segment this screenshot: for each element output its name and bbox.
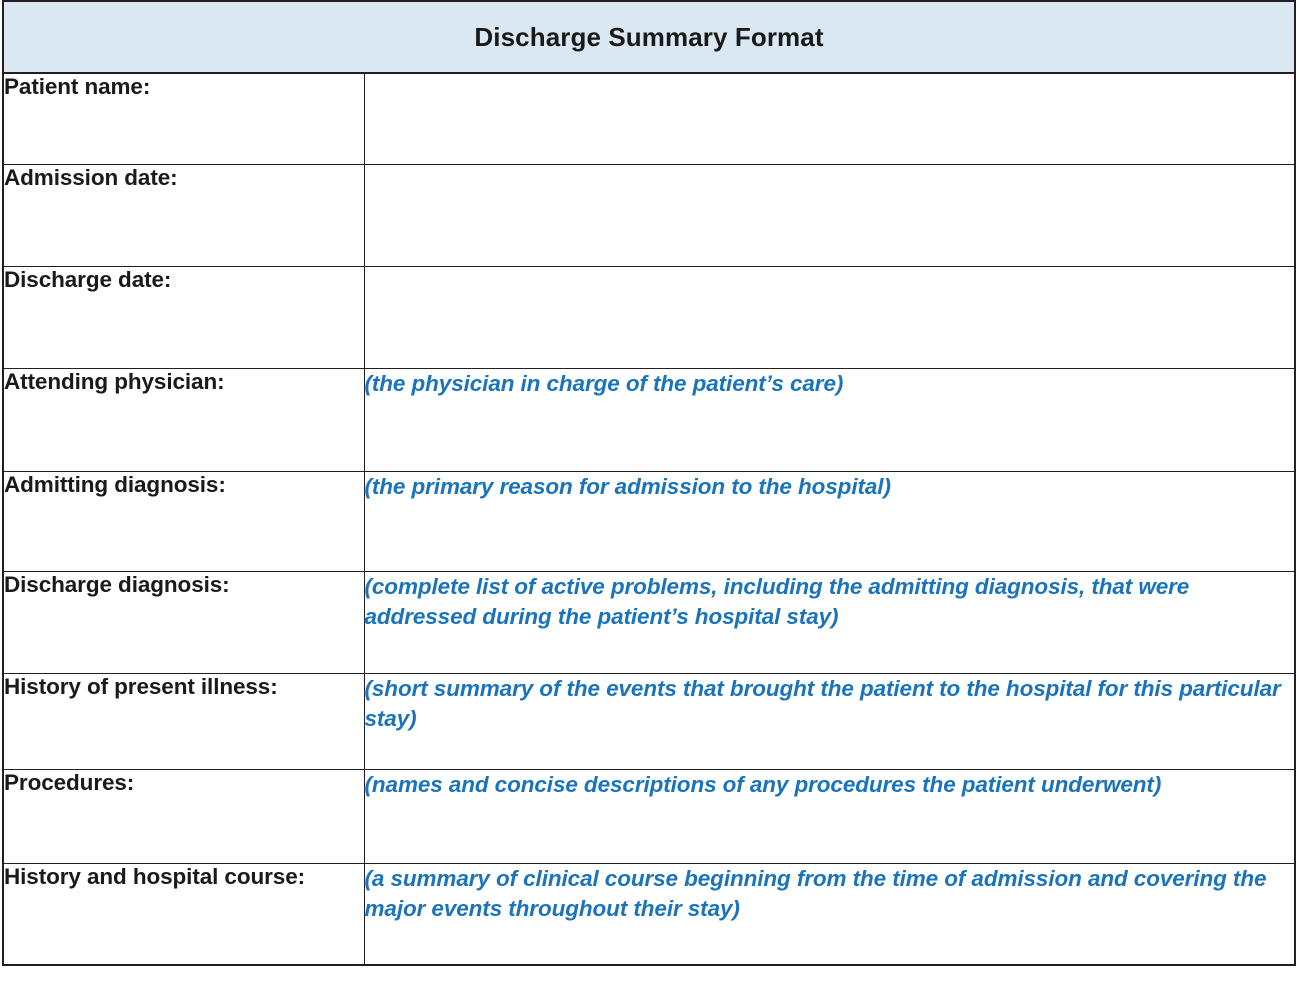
field-label-patient-name: Patient name: bbox=[3, 73, 364, 165]
field-value-discharge-date[interactable] bbox=[364, 267, 1295, 369]
field-value-patient-name[interactable] bbox=[364, 73, 1295, 165]
description-text: (the primary reason for admission to the… bbox=[365, 472, 1295, 502]
discharge-summary-table: Discharge Summary Format Patient name: A… bbox=[2, 0, 1296, 966]
field-label-procedures: Procedures: bbox=[3, 770, 364, 864]
discharge-summary-sheet: Discharge Summary Format Patient name: A… bbox=[0, 0, 1300, 990]
description-text: (complete list of active problems, inclu… bbox=[365, 572, 1295, 632]
field-value-discharge-diagnosis[interactable]: (complete list of active problems, inclu… bbox=[364, 572, 1295, 674]
field-value-procedures[interactable]: (names and concise descriptions of any p… bbox=[364, 770, 1295, 864]
page-title: Discharge Summary Format bbox=[3, 1, 1295, 73]
description-text: (the physician in charge of the patient’… bbox=[365, 369, 1295, 399]
label-text: Attending physician: bbox=[4, 369, 364, 395]
table-row: Patient name: bbox=[3, 73, 1295, 165]
table-row: History of present illness: (short summa… bbox=[3, 674, 1295, 770]
description-text: (short summary of the events that brough… bbox=[365, 674, 1295, 734]
label-text: History of present illness: bbox=[4, 674, 364, 700]
description-text: (a summary of clinical course beginning … bbox=[365, 864, 1295, 924]
field-label-history-of-present-illness: History of present illness: bbox=[3, 674, 364, 770]
field-label-discharge-date: Discharge date: bbox=[3, 267, 364, 369]
table-row: Procedures: (names and concise descripti… bbox=[3, 770, 1295, 864]
table-row: Admission date: bbox=[3, 165, 1295, 267]
label-text: Discharge date: bbox=[4, 267, 364, 293]
field-label-history-and-hospital-course: History and hospital course: bbox=[3, 864, 364, 966]
table-row: Admitting diagnosis: (the primary reason… bbox=[3, 472, 1295, 572]
label-text: Patient name: bbox=[4, 74, 364, 100]
table-header-row: Discharge Summary Format bbox=[3, 1, 1295, 73]
table-row: History and hospital course: (a summary … bbox=[3, 864, 1295, 966]
field-label-admission-date: Admission date: bbox=[3, 165, 364, 267]
field-value-history-of-present-illness[interactable]: (short summary of the events that brough… bbox=[364, 674, 1295, 770]
label-text: Admitting diagnosis: bbox=[4, 472, 364, 498]
field-label-attending-physician: Attending physician: bbox=[3, 369, 364, 472]
description-text: (names and concise descriptions of any p… bbox=[365, 770, 1295, 800]
label-text: History and hospital course: bbox=[4, 864, 364, 890]
table-row: Discharge date: bbox=[3, 267, 1295, 369]
field-value-attending-physician[interactable]: (the physician in charge of the patient’… bbox=[364, 369, 1295, 472]
field-value-admission-date[interactable] bbox=[364, 165, 1295, 267]
field-label-admitting-diagnosis: Admitting diagnosis: bbox=[3, 472, 364, 572]
label-text: Admission date: bbox=[4, 165, 364, 191]
label-text: Discharge diagnosis: bbox=[4, 572, 364, 598]
field-value-admitting-diagnosis[interactable]: (the primary reason for admission to the… bbox=[364, 472, 1295, 572]
label-text: Procedures: bbox=[4, 770, 364, 796]
field-value-history-and-hospital-course[interactable]: (a summary of clinical course beginning … bbox=[364, 864, 1295, 966]
table-row: Attending physician: (the physician in c… bbox=[3, 369, 1295, 472]
field-label-discharge-diagnosis: Discharge diagnosis: bbox=[3, 572, 364, 674]
table-row: Discharge diagnosis: (complete list of a… bbox=[3, 572, 1295, 674]
